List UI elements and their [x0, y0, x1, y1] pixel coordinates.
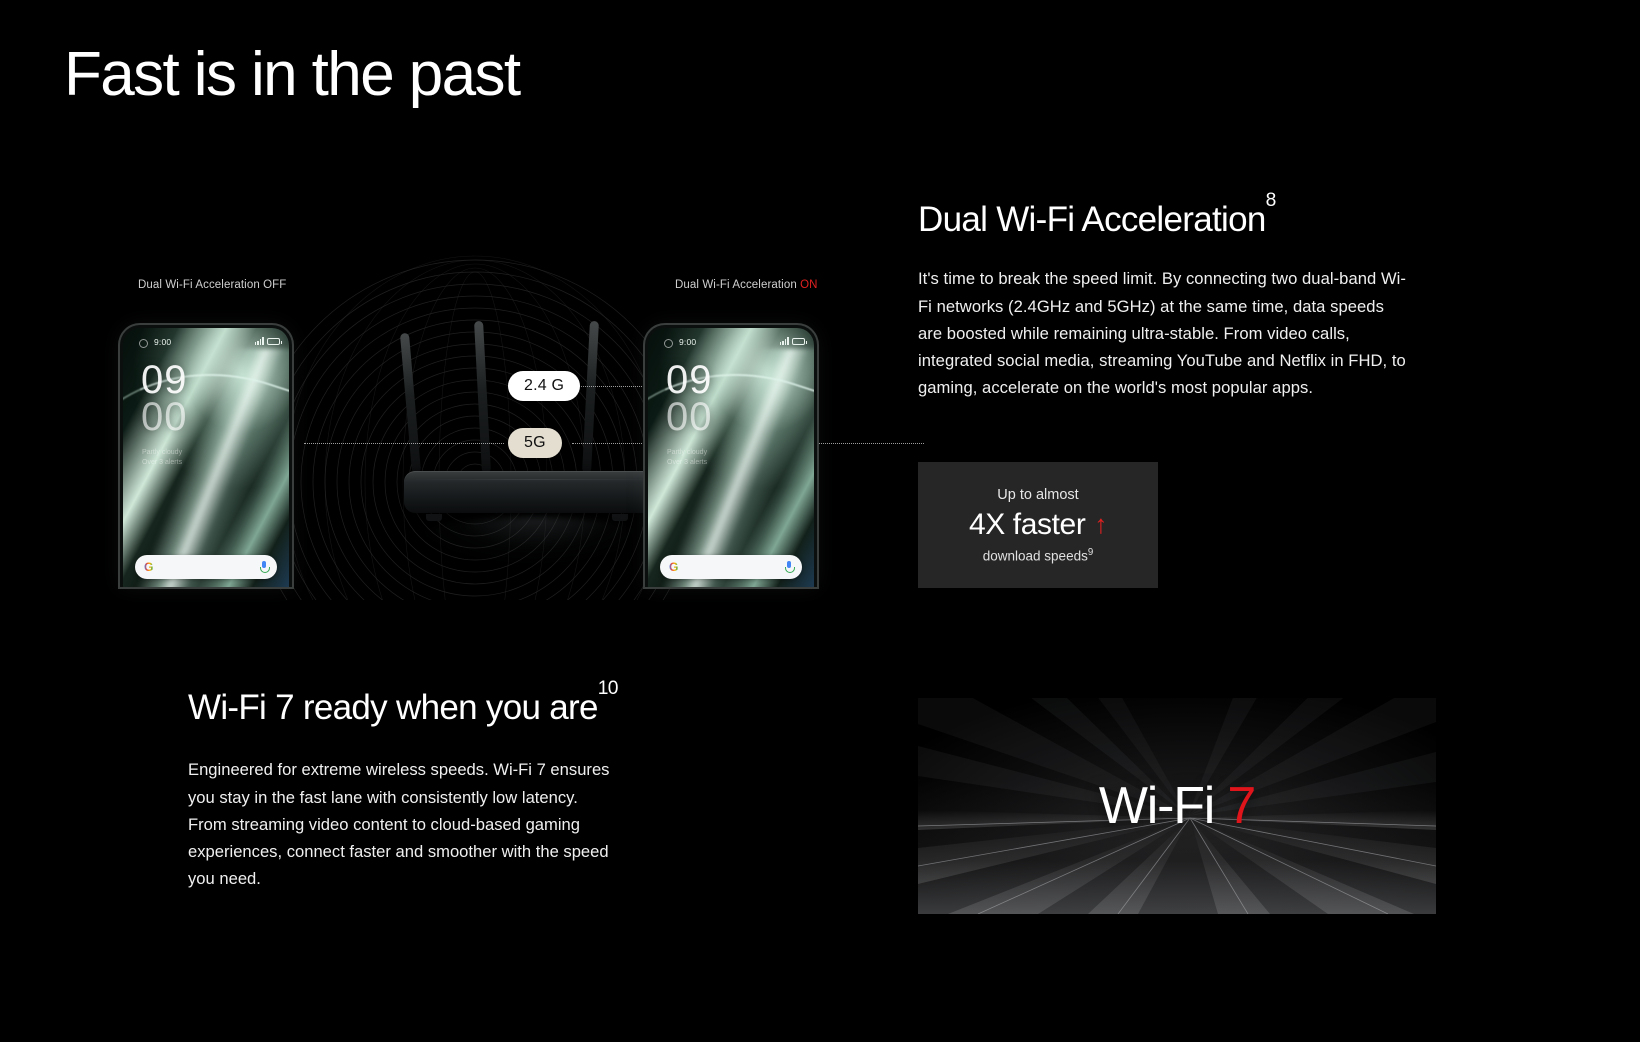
weather-line-1: Partly cloudy	[667, 448, 707, 458]
caption-acceleration-on: Dual Wi-Fi Acceleration ON	[675, 279, 818, 291]
phone-right-screen: 9:00 09 00 Partly cloudy Over 3 alerts G	[648, 328, 814, 587]
arrow-up-icon: ↑	[1094, 511, 1107, 537]
google-search-bar-right[interactable]: G	[660, 555, 802, 579]
google-search-bar-left[interactable]: G	[135, 555, 277, 579]
stat-card-value: 4X faster	[969, 508, 1085, 542]
caption-acceleration-off: Dual Wi-Fi Acceleration OFF	[138, 279, 286, 291]
router-antenna-1	[400, 333, 421, 473]
dual-wifi-showcase: Dual Wi-Fi Acceleration OFF Dual Wi-Fi A…	[60, 255, 890, 605]
google-logo-icon: G	[669, 561, 678, 573]
signal-bars-icon	[780, 337, 789, 345]
band-pill-24g: 2.4 G	[508, 371, 580, 401]
dual-wifi-title: Dual Wi-Fi Acceleration8	[918, 200, 1418, 240]
phone-left-screen: 9:00 09 00 Partly cloudy Over 3 alerts G	[123, 328, 289, 587]
dual-wifi-title-footnote: 8	[1266, 190, 1276, 211]
router-antenna-3	[582, 321, 599, 473]
stat-card-caption-text: download speeds	[983, 548, 1088, 563]
clock-hours: 09	[666, 362, 713, 399]
camera-punchhole-icon	[664, 339, 673, 348]
page-title: Fast is in the past	[64, 42, 520, 107]
lockscreen-weather-left: Partly cloudy Over 3 alerts	[142, 448, 182, 468]
weather-line-2: Over 3 alerts	[142, 458, 182, 468]
lockscreen-clock-right: 09 00	[666, 362, 713, 436]
clock-minutes: 00	[141, 399, 188, 436]
dual-wifi-body: It's time to break the speed limit. By c…	[918, 265, 1410, 401]
caption-on-state: ON	[800, 279, 817, 291]
dual-wifi-section: Dual Wi-Fi Acceleration8 It's time to br…	[918, 200, 1418, 402]
router-body	[404, 471, 666, 513]
wifi7-art-label: Wi-Fi 7	[918, 780, 1436, 832]
wifi7-art-label-red: 7	[1227, 777, 1255, 835]
stat-card-caption-footnote: 9	[1088, 547, 1093, 558]
signal-bars-icon	[255, 337, 264, 345]
clock-hours: 09	[141, 362, 188, 399]
stat-card-caption: download speeds9	[983, 547, 1094, 564]
dual-wifi-title-text: Dual Wi-Fi Acceleration	[918, 200, 1266, 239]
status-icons-right	[780, 337, 805, 345]
router-foot-left	[426, 514, 442, 521]
wifi7-art-image: Wi-Fi 7	[918, 698, 1436, 914]
camera-punchhole-icon	[139, 339, 148, 348]
phone-right: 9:00 09 00 Partly cloudy Over 3 alerts G	[645, 325, 817, 587]
wifi7-title-footnote: 10	[598, 678, 618, 699]
status-time-right: 9:00	[679, 337, 696, 347]
battery-icon	[792, 338, 805, 345]
lockscreen-weather-right: Partly cloudy Over 3 alerts	[667, 448, 707, 468]
mic-icon[interactable]	[784, 561, 793, 574]
router-antenna-2	[474, 321, 491, 473]
stat-card-value-row: 4X faster ↑	[969, 508, 1107, 542]
caption-on-prefix: Dual Wi-Fi Acceleration	[675, 279, 800, 291]
weather-line-2: Over 3 alerts	[667, 458, 707, 468]
page-root: Fast is in the past	[0, 0, 1640, 1042]
weather-line-1: Partly cloudy	[142, 448, 182, 458]
stat-card-eyebrow: Up to almost	[997, 487, 1078, 503]
mic-icon[interactable]	[259, 561, 268, 574]
wifi7-body: Engineered for extreme wireless speeds. …	[188, 756, 620, 892]
router-reflection	[412, 517, 658, 565]
wifi7-section: Wi-Fi 7 ready when you are10 Engineered …	[188, 688, 658, 893]
stat-card-download-speed: Up to almost 4X faster ↑ download speeds…	[918, 462, 1158, 588]
wifi7-art-label-white: Wi-Fi	[1099, 777, 1228, 835]
band-pill-5g: 5G	[508, 428, 562, 458]
lockscreen-clock-left: 09 00	[141, 362, 188, 436]
router-foot-right	[612, 514, 628, 521]
phone-left: 9:00 09 00 Partly cloudy Over 3 alerts G	[120, 325, 292, 587]
wifi7-title-text: Wi-Fi 7 ready when you are	[188, 688, 598, 727]
status-icons-left	[255, 337, 280, 345]
google-logo-icon: G	[144, 561, 153, 573]
battery-icon	[267, 338, 280, 345]
clock-minutes: 00	[666, 399, 713, 436]
link-line-5g-left	[304, 443, 504, 444]
status-time-left: 9:00	[154, 337, 171, 347]
wifi7-title: Wi-Fi 7 ready when you are10	[188, 688, 658, 728]
